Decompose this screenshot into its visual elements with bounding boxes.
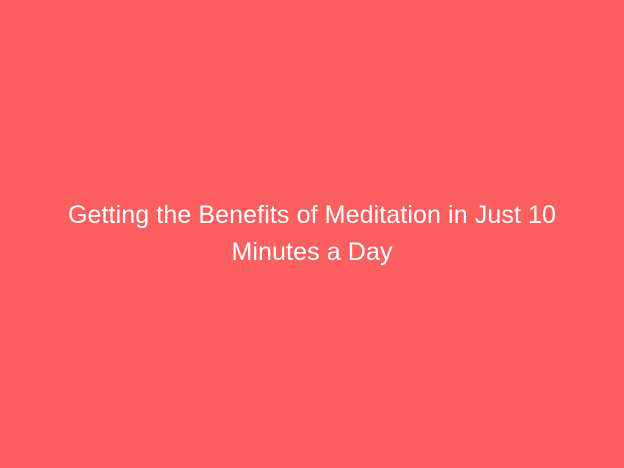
article-header-card: Getting the Benefits of Meditation in Ju…: [0, 0, 624, 468]
page-title: Getting the Benefits of Meditation in Ju…: [48, 197, 576, 271]
title-block: Getting the Benefits of Meditation in Ju…: [0, 197, 624, 271]
